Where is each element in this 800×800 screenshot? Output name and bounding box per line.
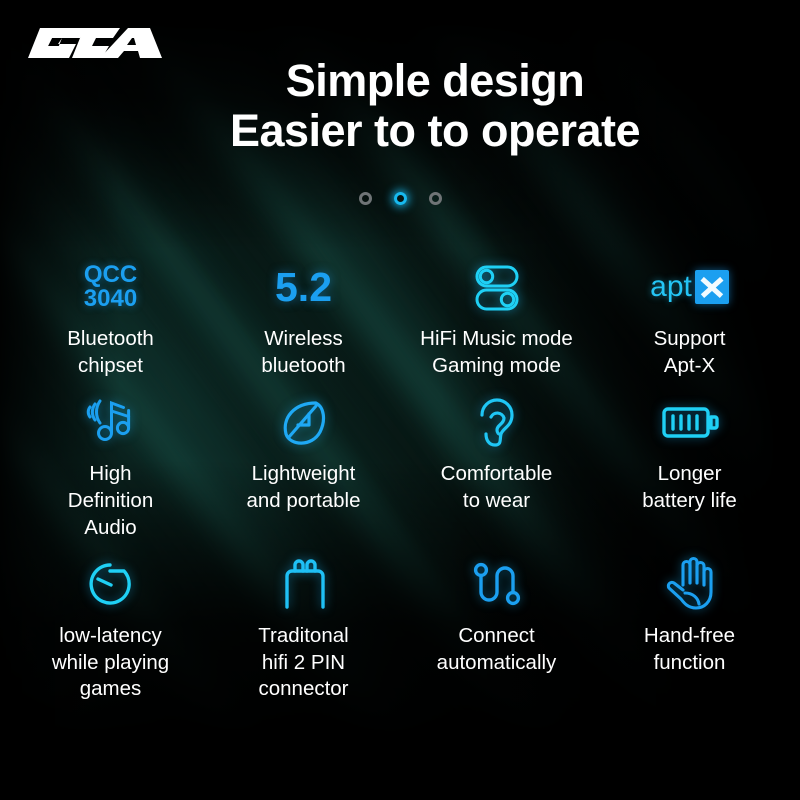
- feature-caption: Lightweight and portable: [247, 461, 361, 514]
- aptx-wordmark: apt: [650, 272, 692, 302]
- feature-item: Connect automatically: [400, 547, 593, 703]
- carousel-dot-3[interactable]: [429, 192, 442, 205]
- stopwatch-timer-icon: [84, 551, 138, 617]
- feature-caption: High Definition Audio: [68, 461, 153, 541]
- carousel-dots: [0, 192, 800, 205]
- feature-caption: low-latency while playing games: [52, 623, 169, 703]
- headline-line-2: Easier to to operate: [0, 106, 800, 156]
- feature-grid: QCC 3040 Bluetooth chipset 5.2 Wireless …: [0, 250, 800, 703]
- feature-caption: HiFi Music mode Gaming mode: [420, 326, 573, 379]
- music-notes-signal-icon: [82, 389, 140, 455]
- carousel-dot-1[interactable]: [359, 192, 372, 205]
- banner-stage: Simple design Easier to to operate QCC 3…: [0, 0, 800, 800]
- feature-caption: Support Apt-X: [654, 326, 726, 379]
- feature-item: apt Support Apt-X: [593, 250, 786, 379]
- carousel-dot-2[interactable]: [394, 192, 407, 205]
- headline-line-1: Simple design: [0, 56, 800, 106]
- feature-item: low-latency while playing games: [14, 547, 207, 703]
- aptx-x-badge-icon: [695, 270, 729, 304]
- feature-caption: Comfortable to wear: [441, 461, 553, 514]
- battery-icon: [660, 389, 720, 455]
- feature-item: Comfortable to wear: [400, 385, 593, 541]
- open-hand-icon: [663, 551, 717, 617]
- feature-caption: Traditonal hifi 2 PIN connector: [258, 623, 348, 703]
- feature-item: 5.2 Wireless bluetooth: [207, 250, 400, 379]
- toggle-switches-icon: [469, 254, 525, 320]
- feature-caption: Hand-free function: [644, 623, 735, 676]
- feature-item: Hand-free function: [593, 547, 786, 703]
- leaf-icon: [276, 389, 332, 455]
- two-pin-connector-icon: [276, 551, 332, 617]
- feature-caption: Bluetooth chipset: [67, 326, 154, 379]
- feature-item: Longer battery life: [593, 385, 786, 541]
- feature-item: QCC 3040 Bluetooth chipset: [14, 250, 207, 379]
- bluetooth-version-label: 5.2: [275, 267, 332, 308]
- qcc-3040-text-icon: QCC 3040: [84, 254, 137, 320]
- feature-caption: Longer battery life: [642, 461, 737, 514]
- feature-caption: Wireless bluetooth: [261, 326, 345, 379]
- feature-item: HiFi Music mode Gaming mode: [400, 250, 593, 379]
- connect-path-icon: [469, 551, 525, 617]
- feature-item: High Definition Audio: [14, 385, 207, 541]
- headline: Simple design Easier to to operate: [0, 56, 800, 155]
- qcc-3040-label: QCC 3040: [84, 263, 137, 312]
- aptx-logo-icon: apt: [650, 254, 729, 320]
- feature-item: Lightweight and portable: [207, 385, 400, 541]
- ear-icon: [470, 389, 524, 455]
- feature-caption: Connect automatically: [437, 623, 557, 676]
- feature-item: Traditonal hifi 2 PIN connector: [207, 547, 400, 703]
- bluetooth-version-text-icon: 5.2: [275, 254, 332, 320]
